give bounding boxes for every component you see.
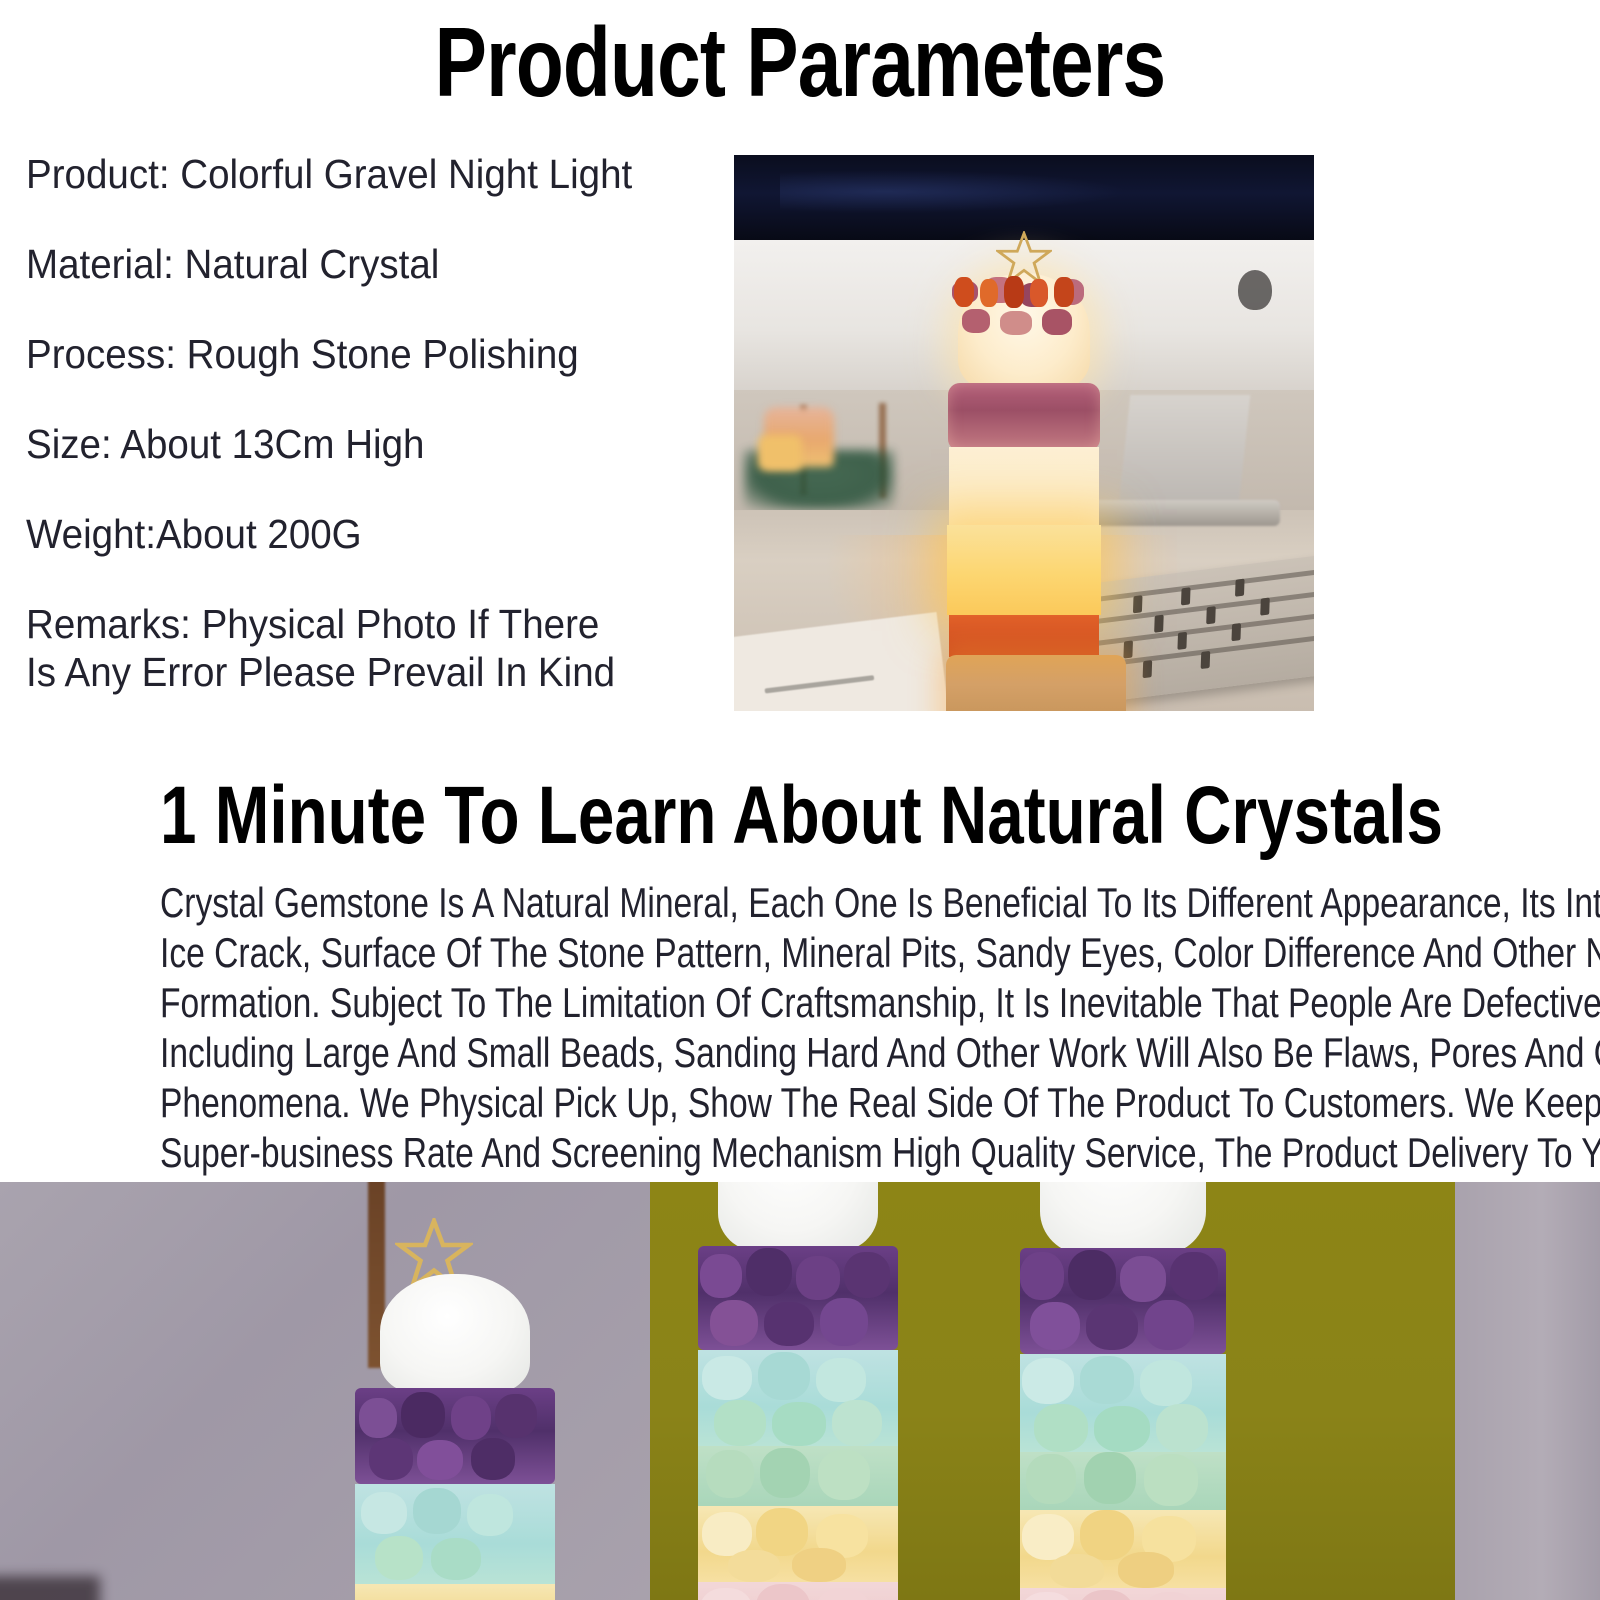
spec-remarks-line2: Is Any Error Please Prevail In Kind (26, 648, 675, 696)
spec-remarks-line1: Remarks: Physical Photo If There (26, 601, 599, 647)
crystal-lamp-left (355, 1274, 555, 1600)
lamp-band-pale (949, 447, 1099, 525)
lamp-band-white-quartz (958, 273, 1090, 391)
bottom-panel-right-edge (1455, 1182, 1600, 1600)
layer-yellow-citrine (1020, 1510, 1226, 1588)
spec-row-process: Process: Rough Stone Polishing (26, 330, 675, 378)
layer-green-aventurine (1020, 1452, 1226, 1510)
layer-aqua-fluorite (1020, 1354, 1226, 1452)
paragraph-line: Crystal Gemstone Is A Natural Mineral, E… (160, 878, 1440, 928)
bottom-panel-left (0, 1182, 650, 1600)
spec-row-material: Material: Natural Crystal (26, 240, 675, 288)
spec-row-product: Product: Colorful Gravel Night Light (26, 150, 675, 198)
spec-list: Product: Colorful Gravel Night Light Mat… (26, 150, 716, 696)
crystal-lamp-olive-a (698, 1182, 898, 1600)
lamp-band-rhodonite (948, 383, 1100, 451)
layer-white-quartz (380, 1274, 530, 1394)
bottom-panel-olive (650, 1182, 1455, 1600)
crystal-lamp-olive-b (1020, 1182, 1226, 1600)
dessert-cake-2 (758, 435, 802, 471)
layer-purple-amethyst (698, 1246, 898, 1350)
monitor-stand-foot (1084, 500, 1280, 526)
layer-purple-amethyst (355, 1388, 555, 1484)
spec-row-remarks: Remarks: Physical Photo If There Is Any … (26, 600, 675, 696)
product-hero-photo (734, 155, 1314, 711)
layer-purple-amethyst (1020, 1248, 1226, 1354)
layer-aqua-fluorite (355, 1484, 555, 1584)
dark-foreground-blob (0, 1576, 100, 1600)
section-title: 1 Minute To Learn About Natural Crystals (160, 768, 1440, 864)
paragraph-line: Ice Crack, Surface Of The Stone Pattern,… (160, 928, 1440, 978)
lamp-band-citrine (947, 525, 1101, 615)
paragraph-line: Super-business Rate And Screening Mechan… (160, 1128, 1440, 1178)
paragraph-line: Including Large And Small Beads, Sanding… (160, 1028, 1440, 1078)
lamp-wooden-base (946, 655, 1126, 711)
spec-row-weight: Weight:About 200G (26, 510, 675, 558)
layer-yellow-citrine (355, 1584, 555, 1600)
layer-white-quartz (1040, 1182, 1206, 1254)
layer-aqua-fluorite (698, 1350, 898, 1446)
imac-screen (734, 155, 1314, 240)
page-title: Product Parameters (160, 6, 1440, 118)
section-paragraph: Crystal Gemstone Is A Natural Mineral, E… (160, 878, 1440, 1228)
lamp-band-jasper (949, 615, 1099, 657)
monitor-stand (1118, 395, 1251, 515)
bottom-photo-strip (0, 1182, 1600, 1600)
layer-green-aventurine (698, 1446, 898, 1506)
layer-pink-rose-quartz (698, 1582, 898, 1600)
crystal-lamp-hero (946, 273, 1102, 711)
paragraph-line: Phenomena. We Physical Pick Up, Show The… (160, 1078, 1440, 1128)
layer-pink-rose-quartz (1020, 1588, 1226, 1600)
layer-white-quartz (718, 1182, 878, 1252)
layer-yellow-citrine (698, 1506, 898, 1582)
apple-logo-icon (1238, 270, 1272, 310)
gold-star-icon (996, 231, 1052, 285)
spec-row-size: Size: About 13Cm High (26, 420, 675, 468)
paragraph-line: Formation. Subject To The Limitation Of … (160, 978, 1440, 1028)
